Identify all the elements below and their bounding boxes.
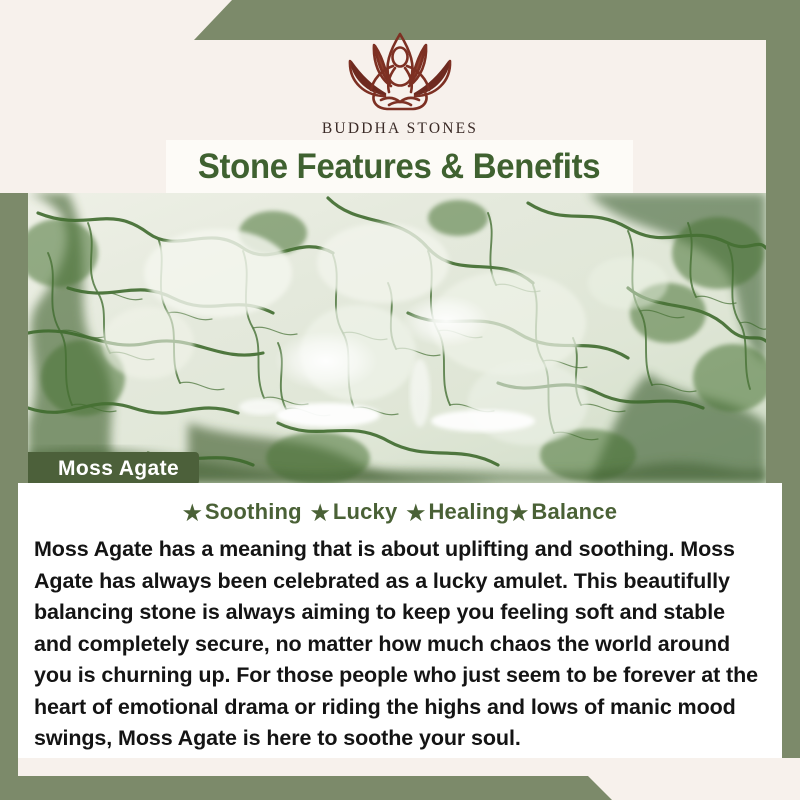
star-icon: ★ xyxy=(183,502,202,525)
stone-name-banner: Moss Agate xyxy=(28,452,199,485)
page-title: Stone Features & Benefits xyxy=(198,147,600,187)
content-panel: ★Soothing★Lucky★Healing★Balance Moss Aga… xyxy=(18,483,782,758)
brand-name: BUDDHA STONES xyxy=(0,120,800,138)
benefit-item-lucky: Lucky xyxy=(333,499,398,524)
stone-photo xyxy=(28,193,766,483)
star-icon: ★ xyxy=(406,502,425,525)
stone-name: Moss Agate xyxy=(58,457,179,481)
product-info-poster: BUDDHA STONES Stone Features & Benefits xyxy=(0,0,800,800)
benefit-item-healing: Healing xyxy=(428,499,509,524)
star-icon: ★ xyxy=(509,502,528,525)
stone-description: Moss Agate has a meaning that is about u… xyxy=(34,534,766,755)
star-icon: ★ xyxy=(311,502,330,525)
brand-logo: BUDDHA STONES xyxy=(0,26,800,138)
lotus-meditation-icon xyxy=(315,26,485,118)
benefit-item-soothing: Soothing xyxy=(205,499,302,524)
benefit-item-balance: Balance xyxy=(531,499,617,524)
benefits-list: ★Soothing★Lucky★Healing★Balance xyxy=(18,499,782,525)
page-title-band: Stone Features & Benefits xyxy=(166,140,633,193)
